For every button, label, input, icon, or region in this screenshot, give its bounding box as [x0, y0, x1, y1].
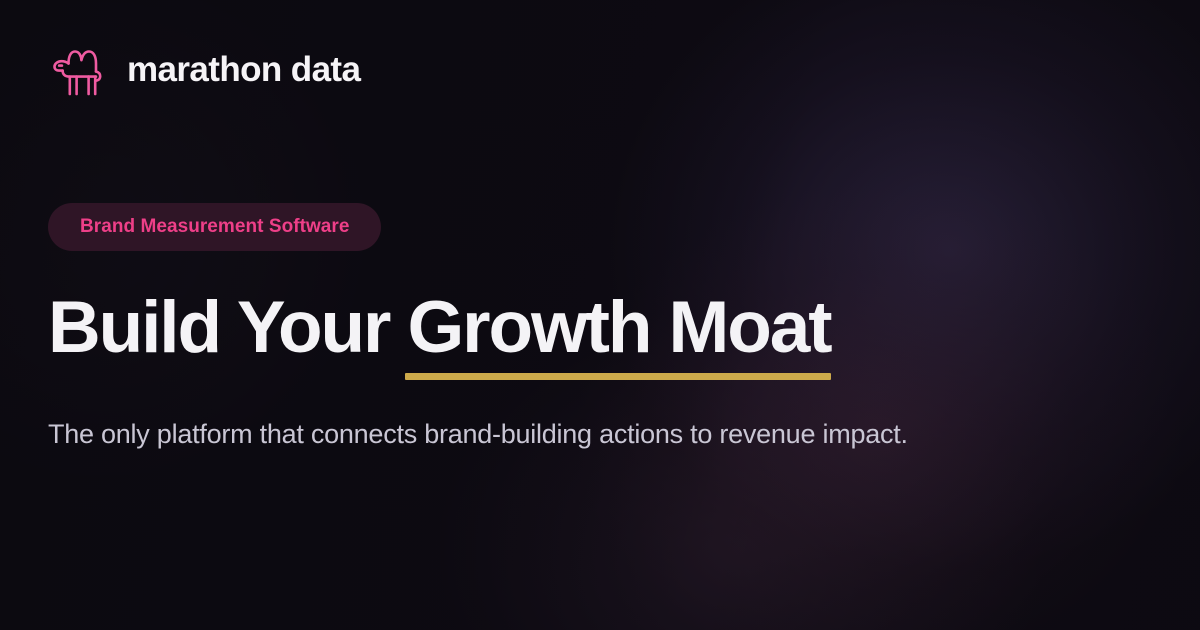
hero-section: marathon data Brand Measurement Software…	[0, 0, 1200, 630]
camel-icon	[48, 38, 108, 100]
status-badge: Brand Measurement Software	[48, 203, 381, 251]
badge-row: Brand Measurement Software	[48, 203, 1152, 251]
brand-logo[interactable]: marathon data	[48, 36, 1152, 102]
page-title: Build Your Growth Moat	[48, 290, 1152, 366]
headline-lead: Build Your	[48, 287, 407, 368]
page-subtitle: The only platform that connects brand-bu…	[48, 415, 1078, 455]
headline-accent: Growth Moat	[407, 290, 830, 366]
brand-name: marathon data	[127, 52, 360, 87]
